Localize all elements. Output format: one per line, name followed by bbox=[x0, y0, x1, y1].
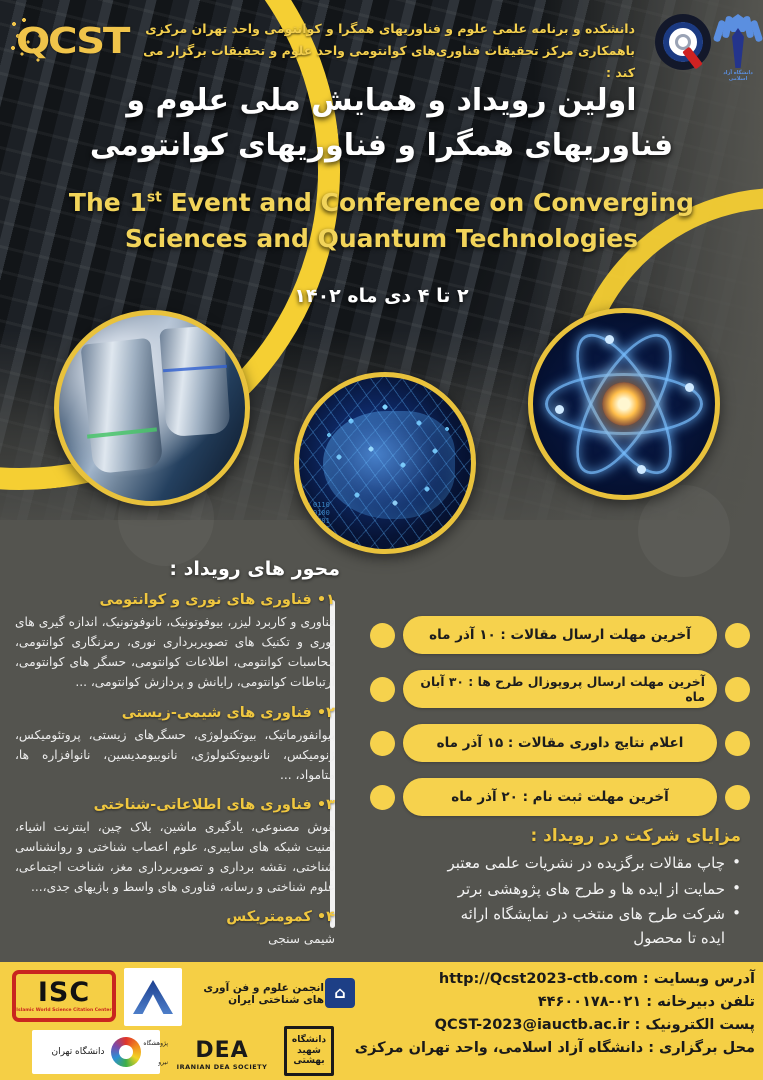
phone-row: تلفن دبیرخانه : ۰۲۱-۴۴۶۰۰۱۷۸ bbox=[325, 991, 755, 1014]
deadline-row: آخرین مهلت ارسال مقالات : ۱۰ آذر ماه bbox=[370, 614, 750, 656]
power-research-caption: پژوهشگاه نیرو bbox=[143, 1040, 168, 1066]
deadline-pill: آخرین مهلت ثبت نام : ۲۰ آذر ماه bbox=[403, 778, 717, 816]
topic-title: ۱• فناوری های نوری و کوانتومی bbox=[15, 592, 335, 608]
qcst-logo-text: QCST bbox=[16, 21, 128, 62]
deadline-pill: اعلام نتایج داوری مقالات : ۱۵ آذر ماه bbox=[403, 724, 717, 762]
benefit-item: چاپ مقالات برگزیده در نشریات علمی معتبر bbox=[365, 852, 741, 876]
benefit-item-continuation: ایده تا محصول bbox=[365, 927, 725, 951]
deadline-row: آخرین مهلت ارسال پروپوزال طرح ها : ۳۰ آب… bbox=[370, 668, 750, 710]
topic-number: ۴ bbox=[326, 909, 335, 925]
bullet-dot-icon bbox=[725, 731, 750, 756]
spectrum-logo-caption: دانشگاه تهران bbox=[51, 1047, 104, 1057]
topic-item: ۲• فناوری های شیمی-زیستی بیوانفورماتیک، … bbox=[15, 705, 335, 785]
website-row: آدرس وبسایت : http://Qcst2023-ctb.com bbox=[325, 968, 755, 991]
bullet-dot-icon bbox=[725, 623, 750, 648]
topic-body: شیمی سنجی bbox=[15, 929, 335, 949]
phone-label: تلفن دبیرخانه : bbox=[646, 994, 755, 1010]
bullet-dot-icon bbox=[370, 677, 395, 702]
electron-icon bbox=[637, 465, 646, 474]
cognitive-society-name: انجمن علوم و فن آوری های شناختی ایران bbox=[188, 982, 324, 1006]
topic-item: ۴• کمومتریکس شیمی سنجی bbox=[15, 909, 335, 949]
deadline-pill: آخرین مهلت ارسال مقالات : ۱۰ آذر ماه bbox=[403, 616, 717, 654]
isc-logo-subtitle: Islamic World Science Citation Center bbox=[16, 1008, 111, 1013]
bullet-dot-icon bbox=[725, 785, 750, 810]
topic-item: ۳• فناوری های اطلاعاتی-شناختی هوش مصنوعی… bbox=[15, 797, 335, 898]
phone-number: ۰۲۱-۴۴۶۰۰۱۷۸ bbox=[538, 994, 641, 1010]
title-en-line-2: Sciences and Quantum Technologies bbox=[0, 221, 763, 257]
topic-title: ۴• کمومتریکس bbox=[15, 909, 335, 925]
electron-icon bbox=[605, 335, 614, 344]
deadline-row: آخرین مهلت ثبت نام : ۲۰ آذر ماه bbox=[370, 776, 750, 818]
islamic-azad-university-logo: دانشگاه آزاد اسلامی bbox=[716, 12, 760, 84]
topic-number: ۳ bbox=[326, 797, 335, 813]
topic-body: بیوانفورماتیک، بیوتکنولوژی، حسگرهای زیست… bbox=[15, 725, 335, 785]
azad-center-icon bbox=[732, 28, 744, 68]
circuit-brain-photo: 0110010010011001 bbox=[294, 372, 476, 554]
electron-icon bbox=[555, 405, 564, 414]
email-label: پست الکترونیک : bbox=[635, 1017, 755, 1033]
bullet-dot-icon bbox=[370, 731, 395, 756]
website-url[interactable]: http://Qcst2023-ctb.com bbox=[439, 968, 638, 991]
topic-title: ۳• فناوری های اطلاعاتی-شناختی bbox=[15, 797, 335, 813]
title-en-line-1-wrap: The 1st Event and Conference on Convergi… bbox=[0, 185, 763, 221]
benefit-item-text: شرکت طرح های منتخب در نمایشگاه ارائه bbox=[461, 905, 725, 923]
topic-title-text: فناوری های اطلاعاتی-شناختی bbox=[94, 797, 312, 813]
contact-block: آدرس وبسایت : http://Qcst2023-ctb.com تل… bbox=[325, 968, 755, 1060]
shahid-beheshti-university-logo: دانشگاه شهید بهشتی bbox=[284, 1026, 334, 1076]
conference-poster: QCST دانشکده و برنامه علمی علوم و فناوری… bbox=[0, 0, 763, 1080]
atom-nucleus-icon bbox=[602, 382, 646, 426]
binary-digits: 0110010010011001 bbox=[313, 501, 330, 533]
title-fa-line-1: اولین رویداد و همایش ملی علوم و bbox=[0, 78, 763, 123]
venue-label: محل برگزاری : bbox=[648, 1040, 755, 1056]
benefits-list: چاپ مقالات برگزیده در نشریات علمی معتبر … bbox=[365, 852, 741, 953]
cognitive-triangle-icon bbox=[133, 980, 173, 1014]
sbu-logo-text: دانشگاه شهید بهشتی bbox=[287, 1035, 331, 1066]
deadline-pill: آخرین مهلت ارسال پروپوزال طرح ها : ۳۰ آب… bbox=[403, 670, 717, 708]
dea-logo-text: DEA bbox=[195, 1038, 248, 1063]
topic-title: ۲• فناوری های شیمی-زیستی bbox=[15, 705, 335, 721]
topic-item: ۱• فناوری های نوری و کوانتومی فناوری و ک… bbox=[15, 592, 335, 693]
topic-number: ۲ bbox=[326, 705, 335, 721]
topic-title-text: کمومتریکس bbox=[226, 909, 312, 925]
venue-name: دانشگاه آزاد اسلامی، واحد تهران مرکزی bbox=[355, 1040, 643, 1056]
title-en-sup: st bbox=[147, 190, 162, 206]
qcst-logo: QCST bbox=[10, 10, 135, 72]
brain-lobe-glow bbox=[323, 411, 455, 519]
power-research-logo: پژوهشگاه نیرو bbox=[132, 1030, 168, 1072]
event-date: ۲ تا ۴ دی ماه ۱۴۰۲ bbox=[0, 285, 763, 307]
footer-band: آدرس وبسایت : http://Qcst2023-ctb.com تل… bbox=[0, 962, 763, 1080]
website-label: آدرس وبسایت : bbox=[643, 971, 755, 987]
microscope-objective-icon bbox=[159, 325, 230, 437]
cognitive-society-logo bbox=[124, 968, 182, 1026]
isc-logo-text: ISC bbox=[38, 979, 90, 1006]
bullet-dot-icon bbox=[370, 623, 395, 648]
venue-row: محل برگزاری : دانشگاه آزاد اسلامی، واحد … bbox=[325, 1037, 755, 1060]
benefit-item: حمایت از ایده ها و طرح های پژوهشی برتر bbox=[365, 878, 741, 902]
topic-body: هوش مصنوعی، یادگیری ماشین، بلاک چین، این… bbox=[15, 817, 335, 898]
benefits-heading: مزایای شرکت در رویداد : bbox=[365, 826, 741, 846]
host-line-1: دانشکده و برنامه علمی علوم و فناوریهای ه… bbox=[123, 18, 635, 40]
topics-list: ۱• فناوری های نوری و کوانتومی فناوری و ک… bbox=[15, 592, 335, 962]
isc-logo: ISC Islamic World Science Citation Cente… bbox=[12, 970, 116, 1022]
quantum-research-center-logo bbox=[655, 14, 711, 70]
host-organizers: دانشکده و برنامه علمی علوم و فناوریهای ه… bbox=[123, 18, 635, 84]
electron-icon bbox=[685, 383, 694, 392]
topics-heading: محور های رویداد : bbox=[169, 558, 340, 580]
bullet-dot-icon bbox=[370, 785, 395, 810]
bullet-dot-icon bbox=[725, 677, 750, 702]
topic-title-text: فناوری های نوری و کوانتومی bbox=[100, 592, 312, 608]
dea-society-logo: DEA IRANIAN DEA SOCIETY bbox=[166, 1034, 278, 1074]
email-row: پست الکترونیک : QCST-2023@iauctb.ac.ir bbox=[325, 1014, 755, 1037]
topic-title-text: فناوری های شیمی-زیستی bbox=[122, 705, 312, 721]
page-title-fa: اولین رویداد و همایش ملی علوم و فناوریها… bbox=[0, 78, 763, 168]
title-en-pre: The 1 bbox=[69, 188, 147, 217]
benefit-item: شرکت طرح های منتخب در نمایشگاه ارائه اید… bbox=[365, 903, 741, 950]
title-fa-line-2: فناوریهای همگرا و فناوریهای کوانتومی bbox=[0, 123, 763, 168]
microscope-objective-icon bbox=[80, 338, 163, 475]
topic-number: ۱ bbox=[326, 592, 335, 608]
dea-logo-caption: IRANIAN DEA SOCIETY bbox=[177, 1063, 268, 1071]
ghost-circle-decoration bbox=[638, 485, 730, 577]
microscope-photo bbox=[54, 310, 250, 506]
page-title-en: The 1st Event and Conference on Convergi… bbox=[0, 185, 763, 256]
topic-body: فناوری و کاربرد لیزر، بیوفوتونیک، نانوفو… bbox=[15, 612, 335, 693]
sponsor-logos: ISC Islamic World Science Citation Cente… bbox=[4, 964, 332, 1078]
atom-photo bbox=[528, 308, 720, 500]
deadlines-list: آخرین مهلت ارسال مقالات : ۱۰ آذر ماه آخر… bbox=[370, 614, 750, 830]
title-en-line-1: Event and Conference on Converging bbox=[171, 188, 695, 217]
email-address[interactable]: QCST-2023@iauctb.ac.ir bbox=[435, 1014, 630, 1037]
deadline-row: اعلام نتایج داوری مقالات : ۱۵ آذر ماه bbox=[370, 722, 750, 764]
